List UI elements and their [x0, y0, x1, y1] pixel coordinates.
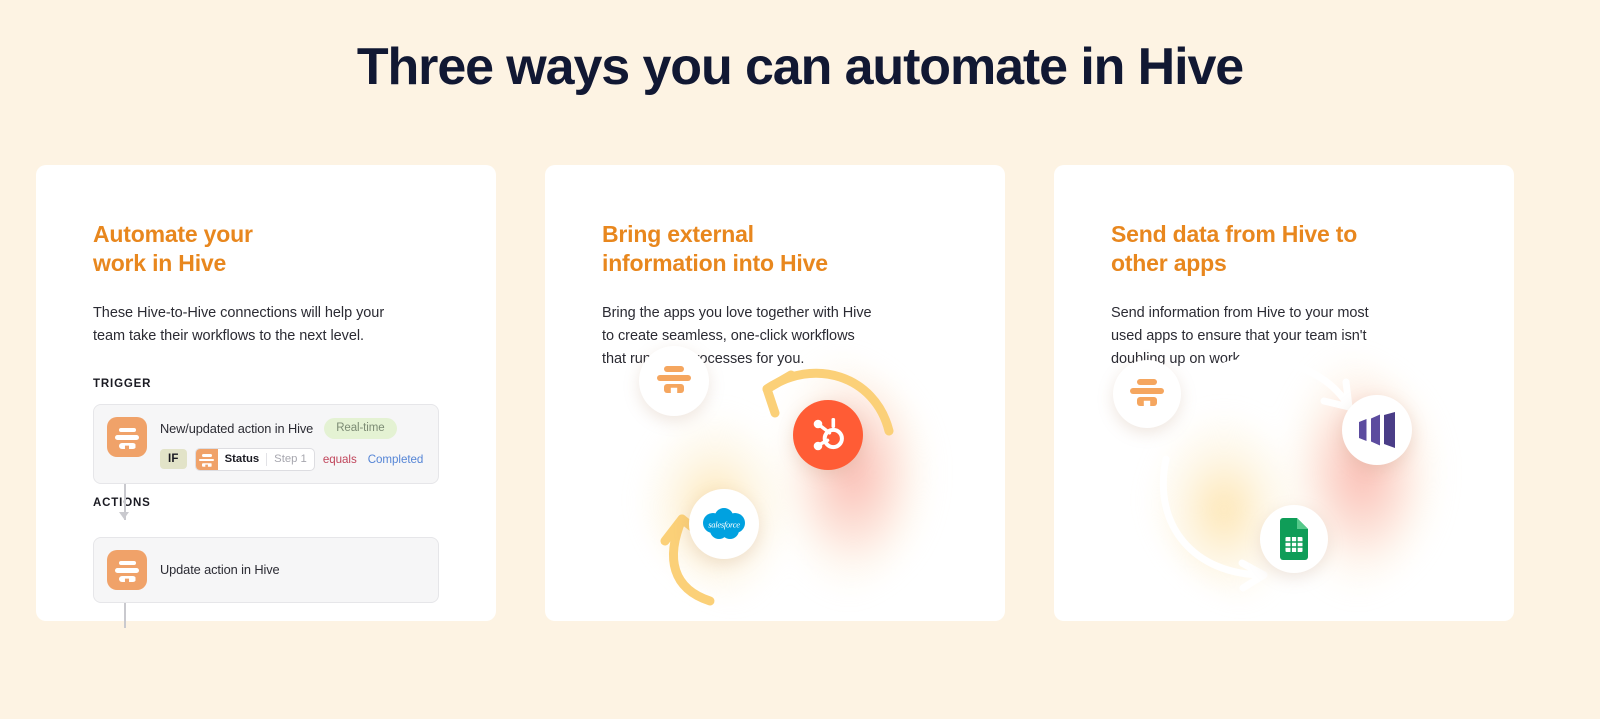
- app-bubble-hubspot[interactable]: [793, 400, 863, 470]
- trigger-node-text: New/updated action in Hive: [160, 421, 313, 436]
- card-send-data-from-hive-to-other-apps[interactable]: Send data from Hive to other apps Send i…: [1054, 165, 1514, 621]
- trigger-node-body: New/updated action in Hive Real-time IF …: [160, 417, 425, 471]
- condition-value: Completed: [368, 453, 424, 466]
- integration-illustration: salesforce: [545, 327, 1005, 621]
- hubspot-icon: [808, 415, 848, 455]
- trigger-section-label: TRIGGER: [93, 378, 439, 390]
- app-bubble-salesforce[interactable]: salesforce: [689, 489, 759, 559]
- action-node-body: Update action in Hive: [160, 560, 425, 579]
- salesforce-icon: salesforce: [700, 506, 748, 542]
- trigger-node-headline: New/updated action in Hive Real-time: [160, 418, 425, 439]
- card-bring-external-information-into-hive[interactable]: Bring external information into Hive Bri…: [545, 165, 1005, 621]
- hive-icon: [1130, 379, 1164, 409]
- condition-field-name: Status: [218, 449, 267, 470]
- hive-icon: [196, 449, 218, 470]
- trigger-node[interactable]: New/updated action in Hive Real-time IF …: [93, 404, 439, 484]
- card-title: Bring external information into Hive: [602, 220, 948, 279]
- condition-field-chip[interactable]: Status Step 1: [195, 448, 315, 471]
- card-description: These Hive-to-Hive connections will help…: [93, 302, 439, 348]
- marketo-icon: [1357, 412, 1397, 448]
- card-automate-your-work-in-hive[interactable]: Automate your work in Hive These Hive-to…: [36, 165, 496, 621]
- card-title: Automate your work in Hive: [93, 220, 439, 279]
- workflow-arrow-head-icon: [119, 512, 129, 519]
- integration-illustration: [1054, 327, 1514, 621]
- arrow-group: [545, 327, 1005, 621]
- app-bubble-google-sheets[interactable]: [1260, 505, 1328, 573]
- cards-container: Automate your work in Hive These Hive-to…: [36, 165, 1564, 621]
- trigger-condition-row: IF Status Step 1 equals: [160, 448, 425, 471]
- condition-step-label: Step 1: [267, 449, 314, 470]
- hive-icon: [657, 366, 691, 396]
- hive-icon: [107, 417, 147, 457]
- card-content: Automate your work in Hive These Hive-to…: [36, 165, 496, 603]
- workflow-diagram: TRIGGER New/updated action in Hive Real-…: [93, 378, 439, 603]
- hive-icon: [107, 550, 147, 590]
- app-bubble-hive[interactable]: [1113, 360, 1181, 428]
- if-badge: IF: [160, 449, 187, 469]
- condition-operator: equals: [323, 453, 357, 466]
- actions-section-label: ACTIONS: [93, 497, 439, 509]
- app-bubble-marketo[interactable]: [1342, 395, 1412, 465]
- svg-text:salesforce: salesforce: [708, 520, 740, 530]
- page-title: Three ways you can automate in Hive: [0, 0, 1600, 98]
- google-sheets-icon: [1277, 518, 1311, 560]
- action-node-text: Update action in Hive: [160, 562, 280, 577]
- action-node[interactable]: Update action in Hive: [93, 537, 439, 603]
- page-root: Three ways you can automate in Hive Auto…: [0, 0, 1600, 719]
- app-bubble-hive[interactable]: [639, 346, 709, 416]
- status-badge: Real-time: [324, 418, 396, 439]
- card-title: Send data from Hive to other apps: [1111, 220, 1457, 279]
